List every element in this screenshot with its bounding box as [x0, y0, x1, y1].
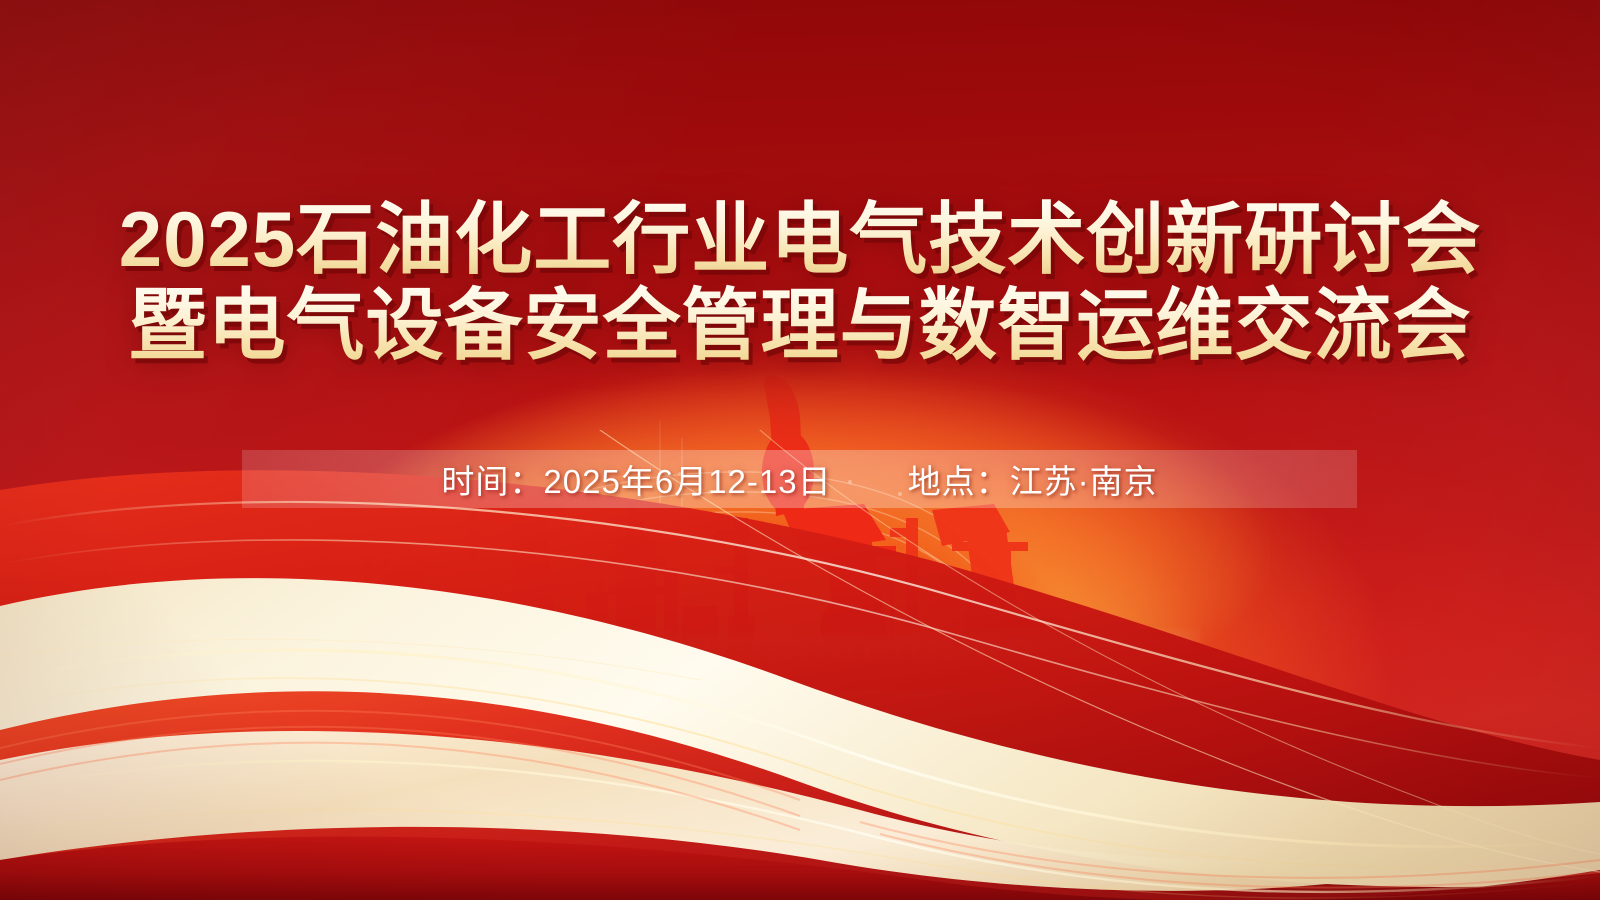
title-line-1: 2025石油化工行业电气技术创新研讨会 — [0, 196, 1600, 282]
title-line-2: 暨电气设备安全管理与数智运维交流会 — [0, 282, 1600, 368]
page-title: 2025石油化工行业电气技术创新研讨会 暨电气设备安全管理与数智运维交流会 — [0, 196, 1600, 368]
event-location: 地点：江苏·南京 — [908, 455, 1158, 503]
event-info-band: 时间：2025年6月12-13日 地点：江苏·南京 — [242, 450, 1357, 508]
conference-banner: 2025石油化工行业电气技术创新研讨会 暨电气设备安全管理与数智运维交流会 时间… — [0, 0, 1600, 900]
event-date: 时间：2025年6月12-13日 — [441, 455, 831, 503]
